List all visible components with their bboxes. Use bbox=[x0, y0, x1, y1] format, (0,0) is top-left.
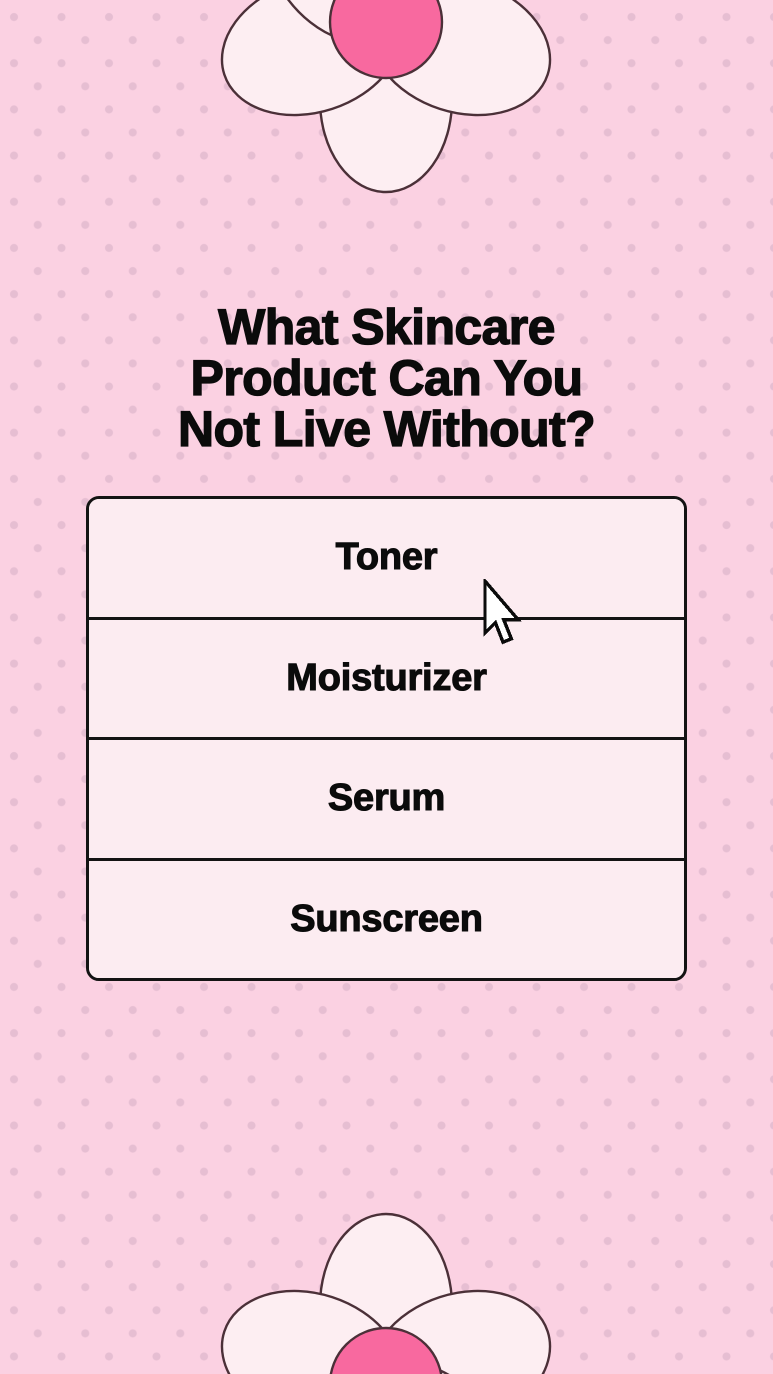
flower-icon bbox=[196, 1194, 576, 1374]
poll-question-title: What Skincare Product Can You Not Live W… bbox=[0, 302, 773, 455]
poll-option-serum[interactable]: Serum bbox=[89, 740, 684, 861]
poll-option-label: Sunscreen bbox=[290, 898, 483, 941]
poll-card-root: What Skincare Product Can You Not Live W… bbox=[0, 0, 773, 1374]
poll-option-moisturizer[interactable]: Moisturizer bbox=[89, 620, 684, 741]
poll-option-sunscreen[interactable]: Sunscreen bbox=[89, 861, 684, 979]
poll-options-list: Toner Moisturizer Serum Sunscreen bbox=[86, 496, 687, 981]
flower-icon bbox=[196, 0, 576, 212]
poll-option-toner[interactable]: Toner bbox=[89, 499, 684, 620]
poll-option-label: Moisturizer bbox=[286, 657, 487, 700]
top-flower-decoration bbox=[196, 0, 576, 217]
poll-option-label: Serum bbox=[328, 777, 445, 820]
poll-option-label: Toner bbox=[336, 536, 438, 579]
bottom-flower-decoration bbox=[196, 1194, 576, 1374]
